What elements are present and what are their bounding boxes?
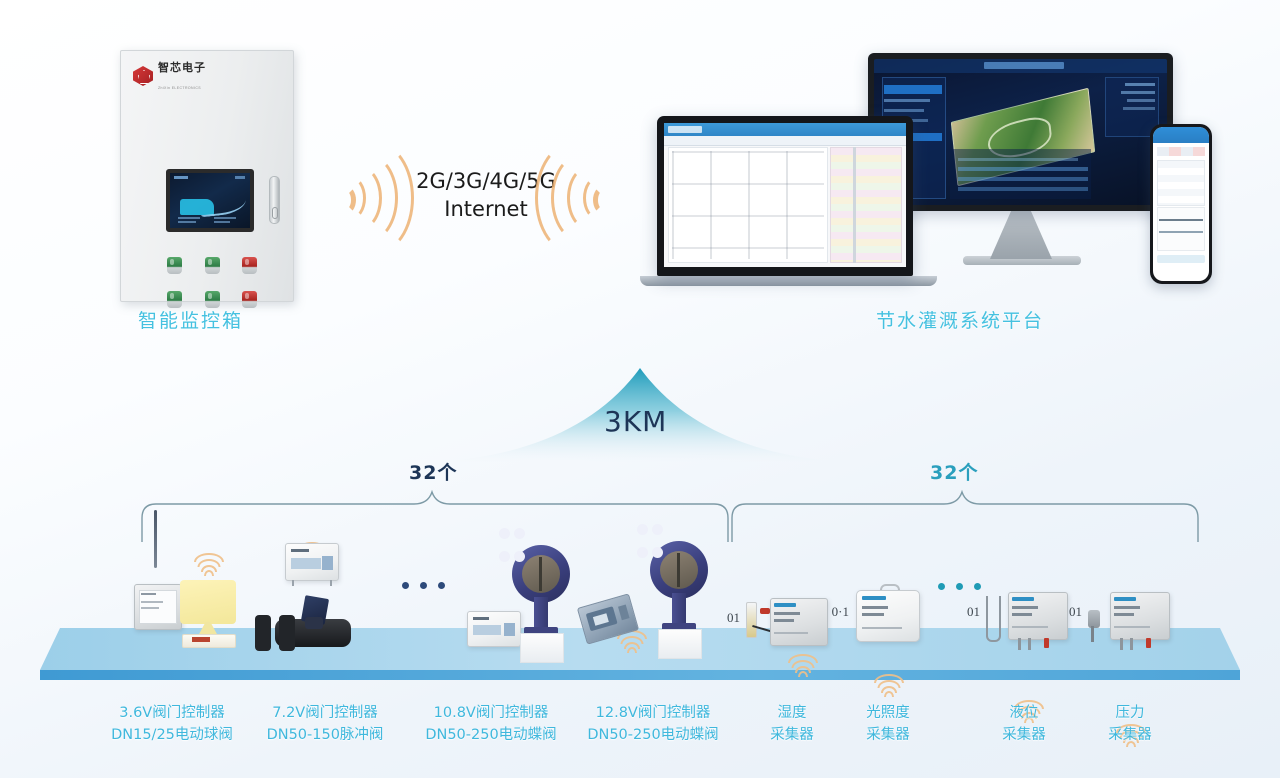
platform-caption: 节水灌溉系统平台 — [876, 306, 1044, 333]
lamp-red-2 — [242, 291, 257, 308]
bracket-left — [140, 484, 730, 544]
label-line1: 10.8V阀门控制器 — [434, 705, 549, 721]
label-line2: DN50-250电动蝶阀 — [587, 727, 718, 743]
brand-logo-subtext: ZhiXin ELECTRONICS — [158, 86, 201, 90]
label-pressure-collector: 压力 采集器 — [1088, 702, 1172, 747]
label-line1: 湿度 — [778, 705, 807, 721]
cabinet-hmi-screen — [166, 169, 254, 232]
label-line2: 采集器 — [1108, 727, 1152, 743]
label-line1: 12.8V阀门控制器 — [596, 705, 711, 721]
device-controller-box-7v2 — [285, 543, 339, 581]
label-line1: 3.6V阀门控制器 — [119, 705, 224, 721]
smart-control-cabinet: 智芯电子 ZhiXin ELECTRONICS — [120, 50, 294, 302]
ellipsis-sensors — [938, 583, 981, 590]
label-humidity-collector: 湿度 采集器 — [750, 702, 834, 747]
network-label-line2: Internet — [444, 197, 527, 221]
lamp-green-1 — [167, 257, 182, 274]
bracket-right-label: 32个 — [930, 458, 978, 485]
label-line1: 压力 — [1116, 705, 1145, 721]
label-line2: DN50-150脉冲阀 — [267, 727, 384, 743]
wifi-cone-icon-6 — [872, 674, 906, 698]
diagram-canvas: 智芯电子 ZhiXin ELECTRONICS 智能监控箱 2G/3G/4G/5… — [0, 0, 1280, 778]
label-illuminance-collector: 光照度 采集器 — [846, 702, 930, 747]
label-line2: DN15/25电动球阀 — [111, 727, 233, 743]
range-label: 3KM — [604, 405, 667, 438]
ellipsis-valves — [402, 582, 445, 589]
brand-logo-icon — [133, 66, 153, 86]
signal-waves-left-icon — [332, 140, 402, 250]
label-line2: 采集器 — [866, 727, 910, 743]
label-line1: 7.2V阀门控制器 — [272, 705, 377, 721]
laptop-device — [657, 116, 913, 276]
phone-screen-content — [1153, 127, 1209, 281]
monitor-screen-content — [874, 59, 1167, 205]
label-line2: 采集器 — [1002, 727, 1046, 743]
label-valve-controller-12v8: 12.8V阀门控制器 DN50-250电动蝶阀 — [558, 702, 748, 747]
lamp-green-2 — [205, 257, 220, 274]
laptop-screen-content — [664, 123, 906, 267]
bracket-right — [730, 484, 1200, 544]
cabinet-caption: 智能监控箱 — [138, 306, 243, 333]
label-line1: 液位 — [1010, 705, 1039, 721]
label-line2: DN50-250电动蝶阀 — [425, 727, 556, 743]
desktop-monitor — [868, 53, 1173, 211]
label-line1: 光照度 — [866, 705, 910, 721]
label-liquid-level-collector: 液位 采集器 — [982, 702, 1066, 747]
cabinet-door-handle[interactable] — [269, 176, 280, 224]
wifi-cone-icon-1 — [192, 553, 226, 577]
laptop-base — [640, 276, 937, 286]
label-line2: 采集器 — [770, 727, 814, 743]
monitor-stand — [990, 211, 1052, 259]
device-controller-box-10v8 — [467, 611, 521, 647]
signal-waves-right-icon — [547, 140, 617, 250]
wifi-cone-icon-5 — [786, 654, 820, 678]
mobile-phone-device — [1150, 124, 1212, 284]
label-valve-controller-7v2: 7.2V阀门控制器 DN50-150脉冲阀 — [235, 702, 415, 747]
brand-logo-text: 智芯电子 — [158, 61, 206, 74]
bracket-left-label: 32个 — [409, 458, 457, 485]
brand-logo: 智芯电子 ZhiXin ELECTRONICS — [133, 63, 243, 89]
lamp-red-1 — [242, 257, 257, 274]
